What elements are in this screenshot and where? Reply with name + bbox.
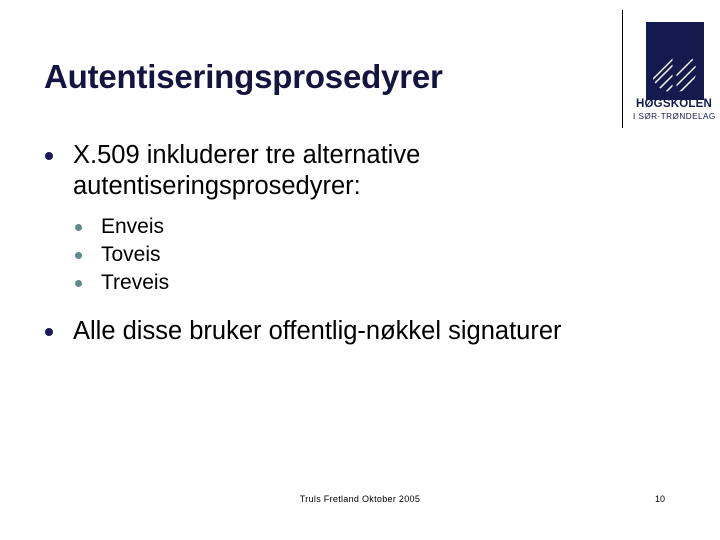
list-item: Enveis xyxy=(74,213,674,241)
list-item-label: Alle disse bruker offentlig-nøkkel signa… xyxy=(73,316,674,347)
slide-title: Autentiseringsprosedyrer xyxy=(44,58,604,96)
bullet-dot-icon xyxy=(45,152,53,160)
list-item-label: X.509 inkluderer tre alternative autenti… xyxy=(73,140,674,202)
bullet-dot-icon xyxy=(75,224,82,231)
list-item-label: Enveis xyxy=(101,215,164,238)
hist-logo-mark-icon xyxy=(646,22,704,100)
footer-credit: Truls Fretland Oktober 2005 xyxy=(0,494,720,504)
list-item-label: Treveis xyxy=(101,271,169,294)
logo-wordmark-line1: HØGSKOLEN xyxy=(633,99,715,110)
bullet-dot-icon xyxy=(45,328,53,336)
list-item-label: Toveis xyxy=(101,243,161,266)
list-item: Alle disse bruker offentlig-nøkkel signa… xyxy=(44,316,674,347)
list-item: Toveis xyxy=(74,241,674,269)
footer-page-number: 10 xyxy=(640,494,680,504)
list-item: Treveis xyxy=(74,269,674,297)
slide-body-sublist: Enveis Toveis Treveis xyxy=(74,213,674,297)
logo-wordmark: HØGSKOLEN I SØR·TRØNDELAG xyxy=(633,99,715,122)
bullet-dot-icon xyxy=(75,280,82,287)
list-item: X.509 inkluderer tre alternative autenti… xyxy=(44,140,674,202)
slide-body-list: X.509 inkluderer tre alternative autenti… xyxy=(44,140,674,347)
logo-wordmark-line2: I SØR·TRØNDELAG xyxy=(633,111,715,122)
slide-canvas: HØGSKOLEN I SØR·TRØNDELAG Autentiserings… xyxy=(0,0,720,540)
institution-logo: HØGSKOLEN I SØR·TRØNDELAG xyxy=(622,10,714,130)
bullet-dot-icon xyxy=(75,252,82,259)
logo-divider-line xyxy=(622,10,623,128)
